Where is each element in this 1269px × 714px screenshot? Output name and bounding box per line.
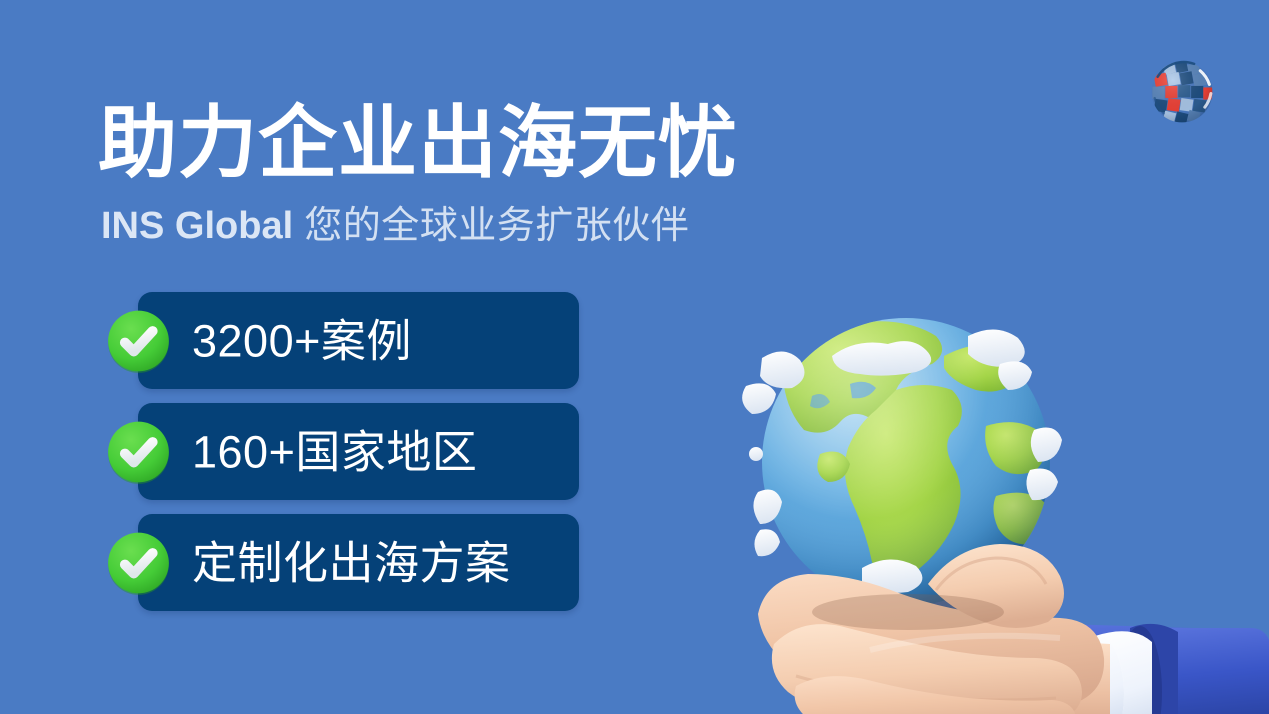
check-circle-icon [105, 418, 172, 485]
list-item[interactable]: 3200+案例 [138, 292, 579, 389]
list-item[interactable]: 定制化出海方案 [138, 514, 579, 611]
checkered-globe-logo [1144, 54, 1220, 130]
marketing-banner: 助力企业出海无忧 INS Global 您的全球业务扩张伙伴 [0, 0, 1269, 714]
list-item-label: 3200+案例 [192, 318, 412, 363]
page-title: 助力企业出海无忧 [98, 103, 738, 182]
list-item-label: 定制化出海方案 [192, 540, 511, 585]
check-circle-icon [105, 307, 172, 374]
feature-list: 3200+案例 [138, 292, 579, 625]
brand-name: INS Global [101, 205, 293, 247]
hand-holding-globe-illustration [700, 240, 1269, 714]
page-subtitle: INS Global 您的全球业务扩张伙伴 [101, 206, 689, 248]
list-item-label: 160+国家地区 [192, 429, 477, 474]
subtitle-text: 您的全球业务扩张伙伴 [293, 205, 689, 247]
check-circle-icon [105, 529, 172, 596]
list-item[interactable]: 160+国家地区 [138, 403, 579, 500]
